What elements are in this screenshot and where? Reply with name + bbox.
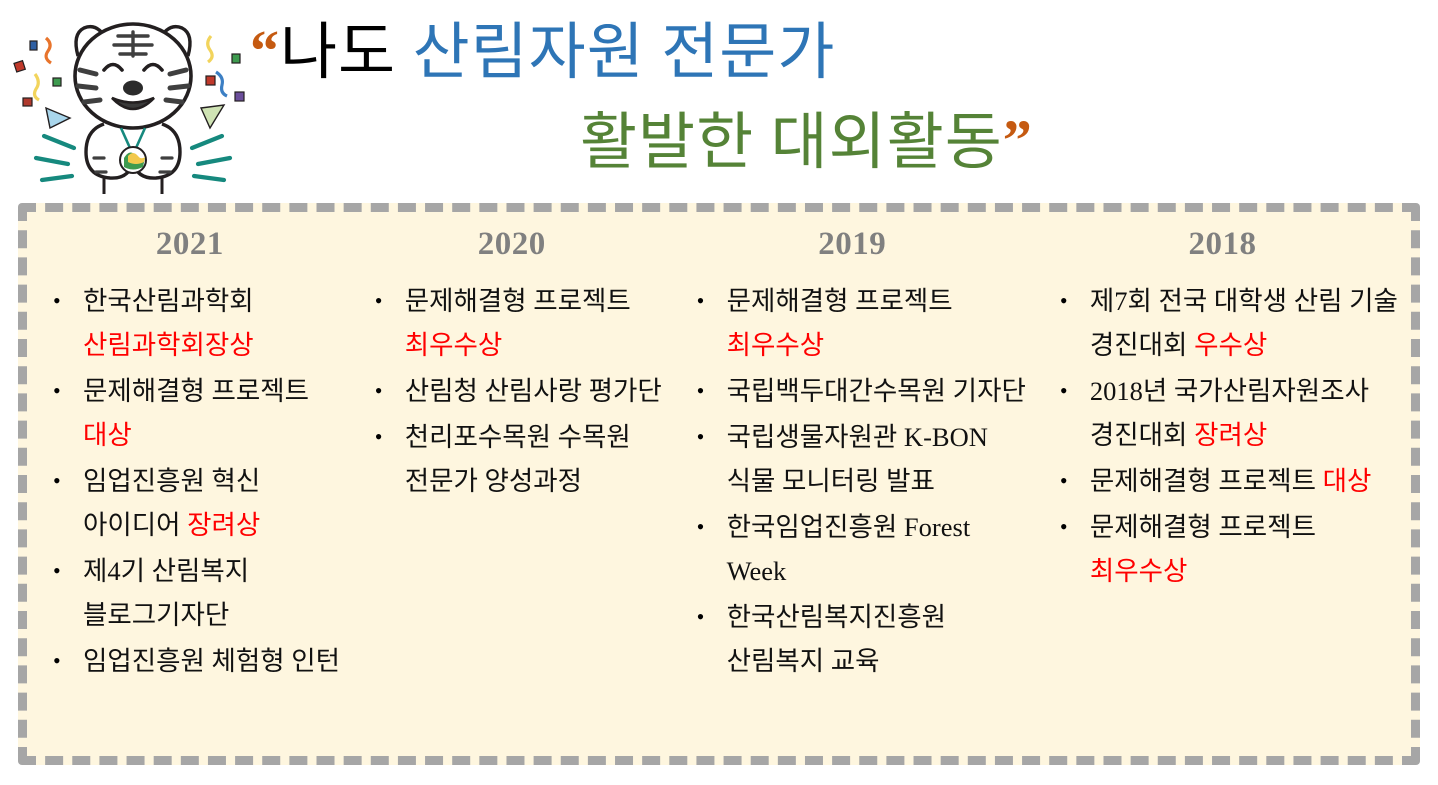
activity-item: 제7회 전국 대학생 산림 기술 경진대회 우수상 [1038,279,1407,367]
award-name: 최우수상 [1090,556,1188,586]
year-heading: 2018 [1038,226,1407,263]
activity-list: 한국산림과학회 산림과학회장상문제해결형 프로젝트 대상임업진흥원 혁신 아이디… [31,279,349,683]
activity-item: 문제해결형 프로젝트 대상 [1038,459,1407,503]
activity-text: 한국산림복지진흥원 산림복지 교육 [727,602,946,676]
year-column-2020: 2020문제해결형 프로젝트 최우수상산림청 산림사랑 평가단천리포수목원 수목… [353,212,671,756]
activity-text: 임업진흥원 체험형 인턴 [83,646,340,676]
activity-text: 천리포수목원 수목원 전문가 양성과정 [405,422,631,496]
title-line-2-green-text: 활발한 대외활동 [580,109,1003,177]
activity-text: 문제해결형 프로젝트 [1090,512,1316,542]
award-name: 대상 [83,420,132,450]
activity-item: 한국임업진흥원 Forest Week [675,505,1030,593]
activity-item: 산림청 산림사랑 평가단 [357,369,667,413]
activity-text: 제4기 산림복지 블로그기자단 [83,556,249,630]
activity-text: 산림청 산림사랑 평가단 [405,376,662,406]
activity-item: 문제해결형 프로젝트 최우수상 [675,279,1030,367]
activity-item: 2018년 국가산림자원조사 경진대회 장려상 [1038,369,1407,457]
year-columns-container: 2021한국산림과학회 산림과학회장상문제해결형 프로젝트 대상임업진흥원 혁신… [27,212,1411,756]
activity-item: 문제해결형 프로젝트 최우수상 [1038,505,1407,593]
page-title: “나도 산림자원 전문가 활발한 대외활동” [250,6,1430,196]
title-line-1-black-text: 나도 [280,19,396,87]
activity-text: 문제해결형 프로젝트 [405,286,631,316]
poster-root: “나도 산림자원 전문가 활발한 대외활동” 2021한국산림과학회 산림과학회… [0,0,1438,785]
activity-list: 문제해결형 프로젝트 최우수상국립백두대간수목원 기자단국립생물자원관 K-BO… [675,279,1030,683]
award-name: 최우수상 [727,330,825,360]
activity-item: 천리포수목원 수목원 전문가 양성과정 [357,415,667,503]
activity-text: 국립백두대간수목원 기자단 [727,376,1026,406]
title-line-2: 활발한 대외활동” [580,112,1033,174]
award-name: 장려상 [187,510,260,540]
award-name: 우수상 [1194,330,1267,360]
year-heading: 2019 [675,226,1030,263]
activity-text: 문제해결형 프로젝트 [1090,466,1323,496]
activity-text: 국립생물자원관 K-BON 식물 모니터링 발표 [727,422,988,496]
activity-item: 국립백두대간수목원 기자단 [675,369,1030,413]
activity-item: 제4기 산림복지 블로그기자단 [31,549,349,637]
activity-list: 문제해결형 프로젝트 최우수상산림청 산림사랑 평가단천리포수목원 수목원 전문… [357,279,667,503]
title-line-1: “나도 산림자원 전문가 [250,22,835,84]
award-name: 장려상 [1194,420,1267,450]
activities-panel: 2021한국산림과학회 산림과학회장상문제해결형 프로젝트 대상임업진흥원 혁신… [18,203,1420,765]
award-name: 대상 [1323,466,1372,496]
celebrating-white-tiger-mascot-icon [8,8,258,200]
year-column-2019: 2019문제해결형 프로젝트 최우수상국립백두대간수목원 기자단국립생물자원관 … [671,212,1034,756]
activity-item: 문제해결형 프로젝트 대상 [31,369,349,457]
year-heading: 2020 [357,226,667,263]
activity-item: 국립생물자원관 K-BON 식물 모니터링 발표 [675,415,1030,503]
activity-text: 한국임업진흥원 Forest Week [727,512,971,586]
open-quote-mark: “ [250,18,280,83]
activity-list: 제7회 전국 대학생 산림 기술 경진대회 우수상2018년 국가산림자원조사 … [1038,279,1407,593]
activity-item: 임업진흥원 혁신 아이디어 장려상 [31,459,349,547]
year-heading: 2021 [31,226,349,263]
title-line-1-blue-text: 산림자원 전문가 [413,19,836,87]
activity-item: 문제해결형 프로젝트 최우수상 [357,279,667,367]
activity-item: 임업진흥원 체험형 인턴 [31,639,349,683]
award-name: 최우수상 [405,330,503,360]
activity-item: 한국산림복지진흥원 산림복지 교육 [675,595,1030,683]
activity-text: 문제해결형 프로젝트 [83,376,309,406]
close-quote-mark: ” [1003,108,1033,173]
poster-header: “나도 산림자원 전문가 활발한 대외활동” [0,0,1438,200]
year-column-2018: 2018제7회 전국 대학생 산림 기술 경진대회 우수상2018년 국가산림자… [1034,212,1411,756]
activity-text: 한국산림과학회 [83,286,254,316]
activity-text: 문제해결형 프로젝트 [727,286,953,316]
activity-item: 한국산림과학회 산림과학회장상 [31,279,349,367]
year-column-2021: 2021한국산림과학회 산림과학회장상문제해결형 프로젝트 대상임업진흥원 혁신… [27,212,353,756]
award-name: 산림과학회장상 [83,330,254,360]
